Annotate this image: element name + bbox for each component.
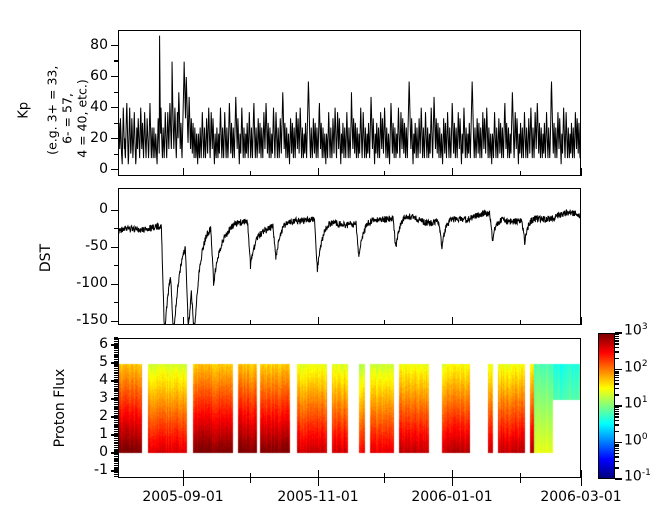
colorbar-minor-tick xyxy=(615,456,619,457)
x-tick-label: 2005-11-01 xyxy=(268,489,368,505)
y-tick-mark xyxy=(111,76,118,77)
y-tick-mark xyxy=(111,107,118,108)
y-minor-tick xyxy=(114,433,118,434)
dst-trace xyxy=(119,189,580,324)
x-minor-tick xyxy=(520,320,521,325)
colorbar-minor-tick xyxy=(615,372,619,373)
x-minor-tick xyxy=(520,171,521,176)
y-minor-tick xyxy=(114,154,118,155)
colorbar-tick-label: 10-1 xyxy=(624,468,651,485)
colorbar-tick xyxy=(615,478,622,479)
figure-root: 020406080 Kp (e.g. 3+ = 33, 6- = 57, 4 =… xyxy=(0,0,665,523)
colorbar-minor-tick xyxy=(615,343,619,344)
y-tick-label: -50 xyxy=(60,238,108,254)
kp-axis-label-note: (e.g. 3+ = 33, 6- = 57, 4 = 40, etc.) xyxy=(45,66,90,158)
x-minor-tick xyxy=(250,320,251,325)
colorbar-minor-tick xyxy=(615,340,619,341)
x-tick-mark xyxy=(318,317,319,325)
colorbar-minor-tick xyxy=(615,380,619,381)
proton-flux-axis-label: Proton Flux xyxy=(52,353,68,463)
kp-trace xyxy=(119,31,580,175)
y-minor-tick xyxy=(114,265,118,266)
colorbar-minor-tick xyxy=(615,431,619,432)
y-minor-tick xyxy=(114,339,118,340)
colorbar xyxy=(598,333,615,479)
y-minor-tick xyxy=(114,468,118,469)
kp-axis-label-main: Kp xyxy=(17,102,32,119)
x-tick-mark xyxy=(183,168,184,176)
colorbar-minor-tick xyxy=(615,338,619,339)
x-tick-label: 2006-01-01 xyxy=(402,489,502,505)
y-tick-mark xyxy=(111,284,118,285)
x-minor-tick-outer xyxy=(250,478,251,483)
x-minor-tick-outer xyxy=(384,478,385,483)
colorbar-tick-label: 102 xyxy=(624,359,648,376)
x-minor-tick xyxy=(384,171,385,176)
x-tick-mark xyxy=(452,168,453,176)
proton-flux-spectrogram xyxy=(119,339,580,477)
y-minor-tick xyxy=(114,450,118,451)
x-tick-mark-outer xyxy=(581,478,582,486)
dst-axis-label: DST xyxy=(38,228,54,288)
y-minor-tick xyxy=(114,361,118,362)
colorbar-minor-tick xyxy=(615,383,619,384)
y-tick-mark xyxy=(111,169,118,170)
y-minor-tick xyxy=(114,337,118,338)
colorbar-minor-tick xyxy=(615,416,619,417)
colorbar-minor-tick xyxy=(615,424,619,425)
x-tick-mark xyxy=(581,470,582,478)
y-minor-tick xyxy=(114,476,118,477)
x-tick-mark xyxy=(452,317,453,325)
x-tick-label: 2006-03-01 xyxy=(531,489,631,505)
y-tick-mark xyxy=(111,210,118,211)
y-minor-tick xyxy=(114,341,118,342)
x-tick-mark xyxy=(183,317,184,325)
proton-flux-panel xyxy=(118,338,581,478)
x-tick-mark xyxy=(581,317,582,325)
x-minor-tick xyxy=(384,320,385,325)
x-tick-mark-outer xyxy=(318,478,319,486)
colorbar-minor-tick xyxy=(615,411,619,412)
y-minor-tick xyxy=(114,415,118,416)
colorbar-minor-tick xyxy=(615,461,619,462)
x-minor-tick-outer xyxy=(520,478,521,483)
x-tick-mark-outer xyxy=(183,478,184,486)
colorbar-minor-tick xyxy=(615,394,619,395)
y-tick-label: -150 xyxy=(60,312,108,328)
colorbar-tick-label: 101 xyxy=(624,395,648,412)
x-minor-tick xyxy=(250,171,251,176)
colorbar-minor-tick xyxy=(615,375,619,376)
y-minor-tick xyxy=(114,92,118,93)
colorbar-minor-tick xyxy=(615,358,619,359)
y-tick-label: 0 xyxy=(60,201,108,217)
colorbar-minor-tick xyxy=(615,445,619,446)
y-tick-label: 80 xyxy=(60,37,108,53)
y-tick-mark xyxy=(111,321,118,322)
colorbar-minor-tick xyxy=(615,413,619,414)
x-tick-label: 2005-09-01 xyxy=(133,489,233,505)
colorbar-minor-tick xyxy=(615,377,619,378)
y-minor-tick xyxy=(114,60,118,61)
y-minor-tick xyxy=(114,123,118,124)
x-tick-mark xyxy=(318,470,319,478)
x-tick-mark xyxy=(452,470,453,478)
y-minor-tick xyxy=(114,397,118,398)
y-tick-mark xyxy=(111,138,118,139)
y-tick-label: 6 xyxy=(60,336,108,352)
y-tick-mark xyxy=(111,247,118,248)
colorbar-minor-tick xyxy=(615,453,619,454)
colorbar-minor-tick xyxy=(615,409,619,410)
colorbar-minor-tick xyxy=(615,371,619,372)
y-tick-label: -100 xyxy=(60,275,108,291)
kp-panel xyxy=(118,30,581,176)
y-minor-tick xyxy=(114,302,118,303)
y-minor-tick xyxy=(114,379,118,380)
colorbar-tick-label: 103 xyxy=(624,322,648,339)
colorbar-tick-label: 100 xyxy=(624,432,648,449)
y-minor-tick xyxy=(114,228,118,229)
x-tick-mark xyxy=(318,168,319,176)
colorbar-minor-tick xyxy=(615,336,619,337)
kp-axis-label: Kp (e.g. 3+ = 33, 6- = 57, 4 = 40, etc.) xyxy=(4,59,105,179)
dst-panel xyxy=(118,188,581,325)
colorbar-minor-tick xyxy=(615,388,619,389)
x-tick-mark-outer xyxy=(452,478,453,486)
colorbar-minor-tick xyxy=(615,420,619,421)
x-tick-mark xyxy=(183,470,184,478)
colorbar-minor-tick xyxy=(615,351,619,352)
colorbar-minor-tick xyxy=(615,407,619,408)
colorbar-minor-tick xyxy=(615,448,619,449)
colorbar-minor-tick xyxy=(615,347,619,348)
colorbar-minor-tick xyxy=(615,334,619,335)
colorbar-minor-tick xyxy=(615,467,619,468)
y-tick-label: -1 xyxy=(60,462,108,478)
x-tick-mark xyxy=(581,168,582,176)
colorbar-minor-tick xyxy=(615,450,619,451)
y-minor-tick xyxy=(114,343,118,344)
colorbar-minor-tick xyxy=(615,444,619,445)
y-tick-mark xyxy=(111,45,118,46)
